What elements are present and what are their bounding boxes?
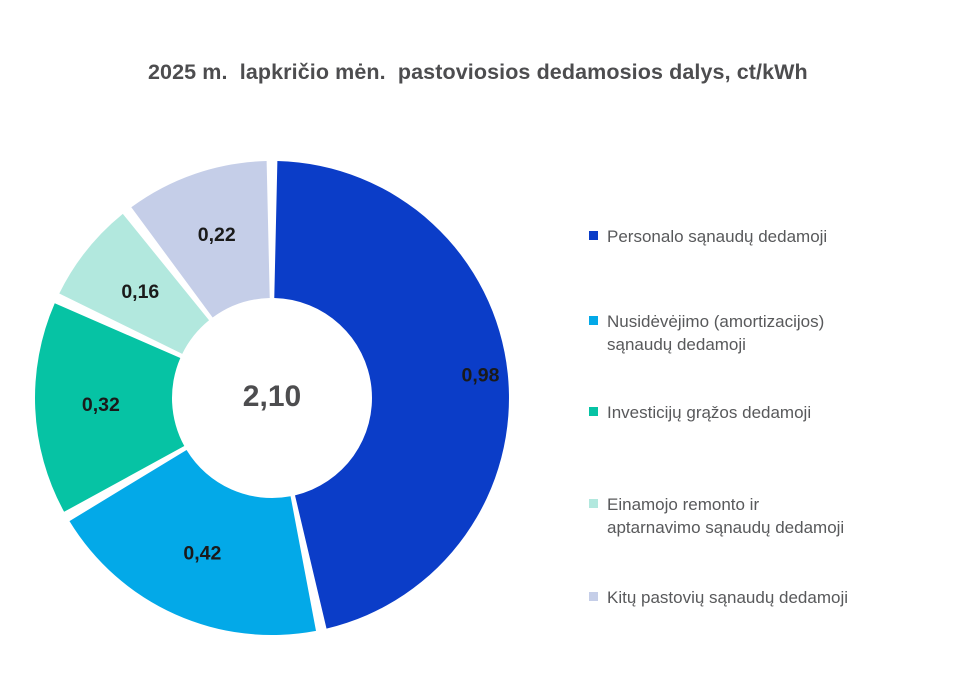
donut-slice-value-label: 0,42 [183, 543, 221, 565]
donut-slice[interactable] [274, 161, 509, 629]
legend-item-label: Einamojo remonto ir aptarnavimo sąnaudų … [607, 493, 844, 539]
legend-color-swatch-icon [589, 499, 598, 508]
donut-slice-value-label: 0,98 [462, 364, 500, 386]
legend-item[interactable]: Einamojo remonto ir aptarnavimo sąnaudų … [589, 493, 844, 539]
donut-chart-figure: 2025 m. lapkričio mėn. pastoviosios deda… [0, 0, 960, 687]
donut-svg: 0,980,420,320,160,22 2,10 [12, 140, 552, 680]
donut-slice-value-label: 0,32 [82, 394, 120, 416]
legend-item[interactable]: Kitų pastovių sąnaudų dedamoji [589, 586, 848, 609]
legend-color-swatch-icon [589, 231, 598, 240]
donut-slice-value-label: 0,16 [121, 281, 159, 303]
legend-item-label: Investicijų grąžos dedamoji [607, 401, 811, 424]
legend-item-label: Personalo sąnaudų dedamoji [607, 225, 827, 248]
legend-item[interactable]: Personalo sąnaudų dedamoji [589, 225, 827, 248]
legend-item[interactable]: Investicijų grąžos dedamoji [589, 401, 811, 424]
legend-color-swatch-icon [589, 592, 598, 601]
legend-item-label: Nusidėvėjimo (amortizacijos) sąnaudų ded… [607, 310, 824, 356]
donut-center-total: 2,10 [243, 380, 301, 413]
chart-title: 2025 m. lapkričio mėn. pastoviosios deda… [148, 60, 848, 85]
legend-item[interactable]: Nusidėvėjimo (amortizacijos) sąnaudų ded… [589, 310, 824, 356]
donut-plot-area: 0,980,420,320,160,22 2,10 [12, 140, 552, 680]
donut-slice-value-label: 0,22 [198, 224, 236, 246]
legend-item-label: Kitų pastovių sąnaudų dedamoji [607, 586, 848, 609]
legend-color-swatch-icon [589, 407, 598, 416]
legend-color-swatch-icon [589, 316, 598, 325]
